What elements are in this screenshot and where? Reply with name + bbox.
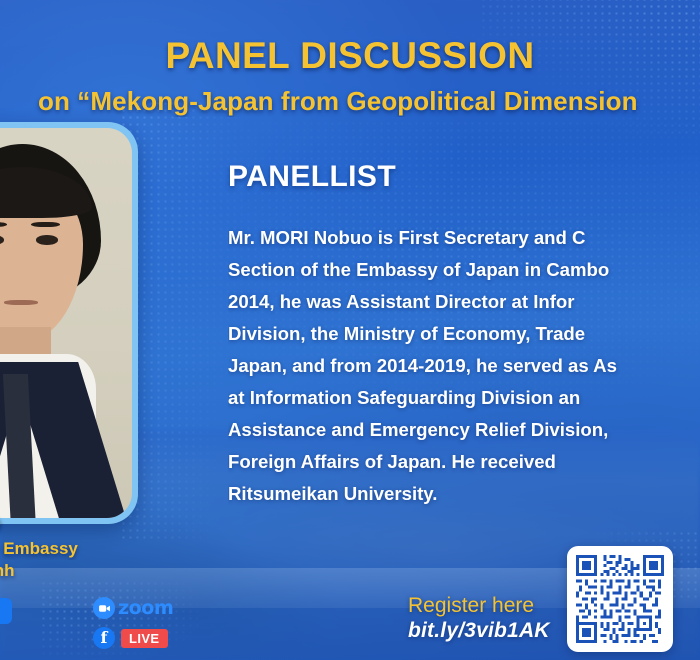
- bio-line: Foreign Affairs of Japan. He received: [228, 446, 700, 478]
- bio-line: Assistance and Emergency Relief Division…: [228, 414, 700, 446]
- registration-short-url[interactable]: bit.ly/3vib1AK: [408, 619, 550, 643]
- panellist-biography: Mr. MORI Nobuo is First Secretary and C …: [228, 222, 700, 510]
- bio-line: Japan, and from 2014-2019, he served as …: [228, 350, 700, 382]
- register-here-label: Register here: [408, 594, 534, 618]
- portrait-eye-right: [36, 235, 58, 244]
- halftone-dots-mid-left: [120, 100, 240, 540]
- bio-line: Division, the Ministry of Economy, Trade: [228, 318, 700, 350]
- bio-line: Ritsumeikan University.: [228, 478, 700, 510]
- live-badge: LIVE: [121, 629, 168, 648]
- speaker-role-line-2: hnom Penh: [0, 560, 262, 582]
- bio-line: at Information Safeguarding Division an: [228, 382, 700, 414]
- speaker-role-line-1: ion of the Embassy: [0, 538, 262, 560]
- speaker-portrait-image: [0, 128, 132, 518]
- facebook-icon: f: [93, 627, 115, 649]
- portrait-mouth: [4, 300, 38, 305]
- facebook-live-row[interactable]: f LIVE: [93, 627, 168, 649]
- speaker-name: Nobuo: [0, 508, 252, 537]
- zoom-camera-icon: [93, 597, 115, 619]
- poster-title: PANEL DISCUSSION: [0, 35, 700, 77]
- zoom-platform-row[interactable]: zoom: [93, 597, 173, 619]
- bio-line: Section of the Embassy of Japan in Cambo: [228, 254, 700, 286]
- poster-subtitle: on “Mekong-Japan from Geopolitical Dimen…: [0, 86, 700, 117]
- panel-discussion-poster: PANEL DISCUSSION on “Mekong-Japan from G…: [0, 0, 700, 660]
- panellist-heading: PANELLIST: [228, 160, 396, 194]
- speaker-photo-card: [0, 122, 138, 524]
- registration-qr-code[interactable]: [567, 546, 673, 652]
- clipped-social-icon[interactable]: [0, 598, 12, 624]
- zoom-wordmark: zoom: [118, 599, 173, 618]
- bio-line: 2014, he was Assistant Director at Infor: [228, 286, 700, 318]
- bio-line: Mr. MORI Nobuo is First Secretary and C: [228, 222, 700, 254]
